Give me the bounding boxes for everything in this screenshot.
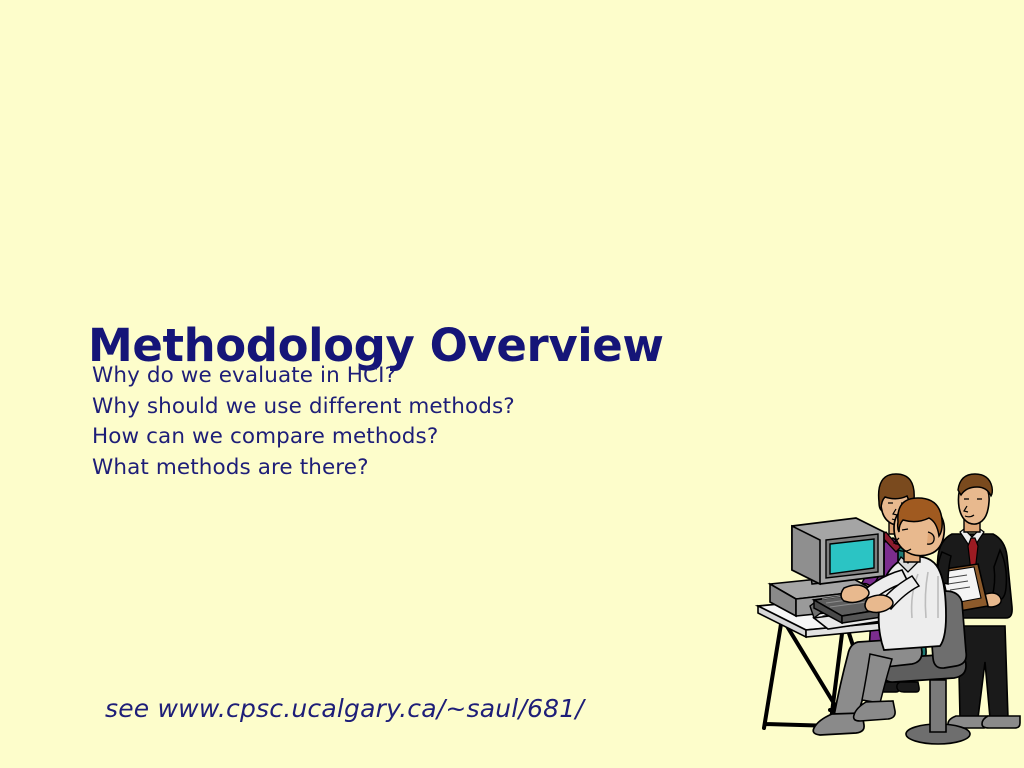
source-url-note: see www.cpsc.ucalgary.ca/~saul/681/ [105, 694, 584, 723]
slide-body-text: Why do we evaluate in HCI? Why should we… [92, 361, 712, 483]
usability-evaluation-illustration [752, 466, 1024, 758]
body-line-1: Why do we evaluate in HCI? [92, 361, 712, 392]
body-line-2: Why should we use different methods? [92, 392, 712, 423]
body-line-3: How can we compare methods? [92, 422, 712, 453]
body-line-4: What methods are there? [92, 453, 712, 484]
presentation-slide: Methodology Overview Why do we evaluate … [0, 0, 1024, 768]
